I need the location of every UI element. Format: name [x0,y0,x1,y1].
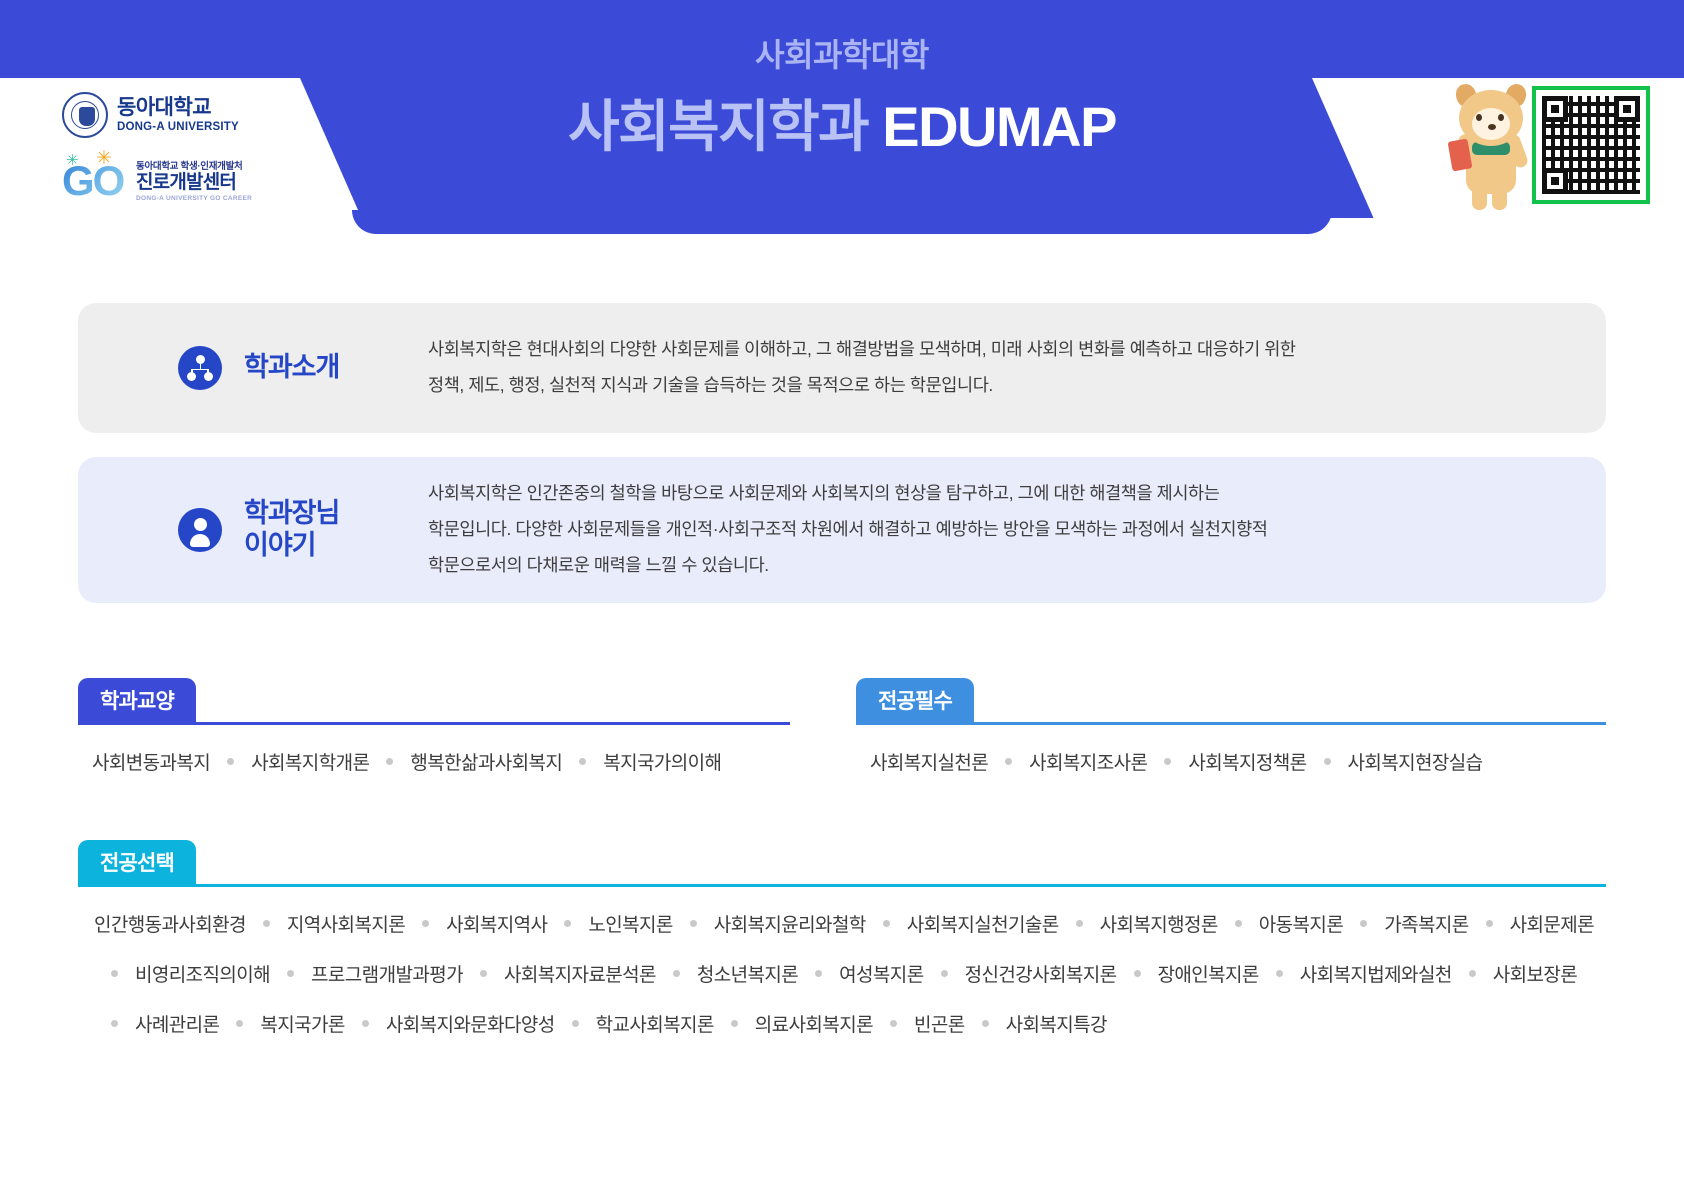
qr-finder-bottom-left [1542,168,1568,194]
university-name-en: DONG-A UNIVERSITY [117,121,239,133]
course-separator-dot [287,970,294,977]
course-separator-dot [422,920,429,927]
course-item: 사회문제론 [1510,910,1594,937]
university-logo: 동아대학교 DONG-A UNIVERSITY [62,92,292,138]
course-item: 사회복지정책론 [1188,748,1306,775]
university-name-group: 동아대학교 DONG-A UNIVERSITY [117,97,239,133]
course-item: 사회보장론 [1493,960,1577,987]
mascot-nose [1488,124,1496,130]
course-separator-dot [890,1020,897,1027]
section-major-required: 전공필수 사회복지실천론사회복지조사론사회복지정책론사회복지현장실습 [856,678,1606,775]
career-center-logo: ✳ ✳ GO 동아대학교 학생·인재개발처 진로개발센터 DONG-A UNIV… [62,158,292,206]
qr-finder-top-right [1614,96,1640,122]
course-list-seontaek: 인간행동과사회환경지역사회복지론사회복지역사노인복지론사회복지윤리와철학사회복지… [78,910,1606,1037]
section-rule-seontaek [78,884,1606,887]
course-item: 빈곤론 [914,1010,965,1037]
course-separator-dot [673,970,680,977]
course-item: 사회복지와문화다양성 [386,1010,555,1037]
course-separator-dot [386,758,393,765]
section-label-pilsu: 전공필수 [856,678,974,723]
hierarchy-icon [178,346,222,390]
course-separator-dot [1360,920,1367,927]
mascot-icon [1448,82,1534,210]
chair-line-1: 사회복지학은 인간존중의 철학을 바탕으로 사회문제와 사회복지의 현상을 탐구… [428,476,1566,512]
course-item: 행복한삶과사회복지 [410,748,562,775]
person-icon [178,508,222,552]
course-item: 정신건강사회복지론 [965,960,1117,987]
course-item: 사회복지실천기술론 [907,910,1059,937]
section-label-gyoyang: 학과교양 [78,678,196,723]
course-item: 사회복지실천론 [870,748,988,775]
course-item: 사회복지현장실습 [1348,748,1483,775]
chair-card-title-line2: 이야기 [244,530,339,562]
course-separator-dot [1276,970,1283,977]
course-separator-dot [263,920,270,927]
course-separator-dot [1235,920,1242,927]
course-item: 사회복지조사론 [1029,748,1147,775]
course-separator-dot [982,1020,989,1027]
mascot-eye-left [1476,114,1482,121]
qr-finder-top-left [1542,96,1568,122]
section-department-liberal-arts: 학과교양 사회변동과복지사회복지학개론행복한삶과사회복지복지국가의이해 [78,678,790,775]
page-header: 사회과학대학 사회복지학과 EDUMAP 동아대학교 DONG-A UNIVER… [0,0,1684,260]
department-intro-card: 학과소개 사회복지학은 현대사회의 다양한 사회문제를 이해하고, 그 해결방법… [78,303,1606,433]
logo-block: 동아대학교 DONG-A UNIVERSITY ✳ ✳ GO 동아대학교 학생·… [62,92,292,206]
chair-line-3: 학문으로서의 다채로운 매력을 느낄 수 있습니다. [428,548,1566,584]
sparkle-orange-icon: ✳ [96,149,112,168]
chair-card-heading: 학과장님 이야기 [78,498,428,562]
course-separator-dot [362,1020,369,1027]
course-separator-dot [941,970,948,977]
sparkle-green-icon: ✳ [66,153,79,168]
course-item: 사회복지법제와실천 [1300,960,1452,987]
course-separator-dot [480,970,487,977]
course-item: 사회복지자료분석론 [504,960,656,987]
course-item: 의료사회복지론 [755,1010,873,1037]
course-separator-dot [111,1020,118,1027]
course-item: 사회변동과복지 [92,748,210,775]
course-separator-dot [1134,970,1141,977]
intro-line-1: 사회복지학은 현대사회의 다양한 사회문제를 이해하고, 그 해결방법을 모색하… [428,332,1566,368]
go-mark-icon: ✳ ✳ GO [62,158,128,206]
career-center-en: DONG-A UNIVERSITY GO CAREER [136,195,252,202]
course-item: 청소년복지론 [697,960,798,987]
course-separator-dot [564,920,571,927]
course-separator-dot [236,1020,243,1027]
chair-message-card: 학과장님 이야기 사회복지학은 인간존중의 철학을 바탕으로 사회문제와 사회복… [78,457,1606,603]
course-separator-dot [1005,758,1012,765]
college-name: 사회과학대학 [0,30,1684,76]
course-item: 노인복지론 [588,910,672,937]
course-item: 사회복지특강 [1006,1010,1107,1037]
course-separator-dot [1164,758,1171,765]
course-separator-dot [1469,970,1476,977]
intro-line-2: 정책, 제도, 행정, 실천적 지식과 기술을 습득하는 것을 목적으로 하는 … [428,368,1566,404]
course-item: 사례관리론 [135,1010,219,1037]
career-center-title: 진로개발센터 [136,173,252,194]
university-crest-icon [62,92,108,138]
course-item: 사회복지윤리와철학 [714,910,866,937]
university-name-ko: 동아대학교 [117,97,239,119]
section-major-elective: 전공선택 인간행동과사회환경지역사회복지론사회복지역사노인복지론사회복지윤리와철… [78,840,1606,1037]
career-center-name-group: 동아대학교 학생·인재개발처 진로개발센터 DONG-A UNIVERSITY … [136,162,252,203]
course-separator-dot [1324,758,1331,765]
intro-card-heading: 학과소개 [78,346,428,390]
course-separator-dot [572,1020,579,1027]
header-banner-tail [352,210,1332,234]
chair-card-body: 사회복지학은 인간존중의 철학을 바탕으로 사회문제와 사회복지의 현상을 탐구… [428,476,1606,584]
course-separator-dot [1076,920,1083,927]
course-item: 가족복지론 [1384,910,1468,937]
course-separator-dot [1486,920,1493,927]
course-item: 비영리조직의이해 [135,960,270,987]
course-item: 복지국가의이해 [603,748,721,775]
course-separator-dot [690,920,697,927]
course-item: 장애인복지론 [1158,960,1259,987]
course-separator-dot [731,1020,738,1027]
course-item: 학교사회복지론 [596,1010,714,1037]
course-list-gyoyang: 사회변동과복지사회복지학개론행복한삶과사회복지복지국가의이해 [78,748,790,775]
chair-line-2: 학문입니다. 다양한 사회문제들을 개인적·사회구조적 차원에서 해결하고 예방… [428,512,1566,548]
section-label-seontaek: 전공선택 [78,840,196,885]
intro-card-body: 사회복지학은 현대사회의 다양한 사회문제를 이해하고, 그 해결방법을 모색하… [428,332,1606,404]
course-separator-dot [111,970,118,977]
course-item: 사회복지역사 [446,910,547,937]
course-item: 아동복지론 [1259,910,1343,937]
course-separator-dot [883,920,890,927]
mascot-eye-right [1498,114,1504,121]
course-item: 프로그램개발과평가 [311,960,463,987]
course-separator-dot [227,758,234,765]
page-title-en: EDUMAP [882,95,1116,158]
course-list-pilsu: 사회복지실천론사회복지조사론사회복지정책론사회복지현장실습 [856,748,1606,775]
course-separator-dot [579,758,586,765]
course-item: 사회복지학개론 [251,748,369,775]
course-item: 사회복지행정론 [1100,910,1218,937]
chair-card-title: 학과장님 이야기 [244,498,339,562]
chair-card-title-line1: 학과장님 [244,498,339,530]
course-item: 복지국가론 [260,1010,344,1037]
course-item: 여성복지론 [839,960,923,987]
intro-card-title: 학과소개 [244,352,339,384]
page-title-ko: 사회복지학과 [568,95,868,158]
course-item: 인간행동과사회환경 [94,910,246,937]
qr-code-pattern [1542,96,1640,194]
career-center-subtitle: 동아대학교 학생·인재개발처 [136,162,252,172]
course-item: 지역사회복지론 [287,910,405,937]
qr-code[interactable] [1532,86,1650,204]
course-separator-dot [815,970,822,977]
